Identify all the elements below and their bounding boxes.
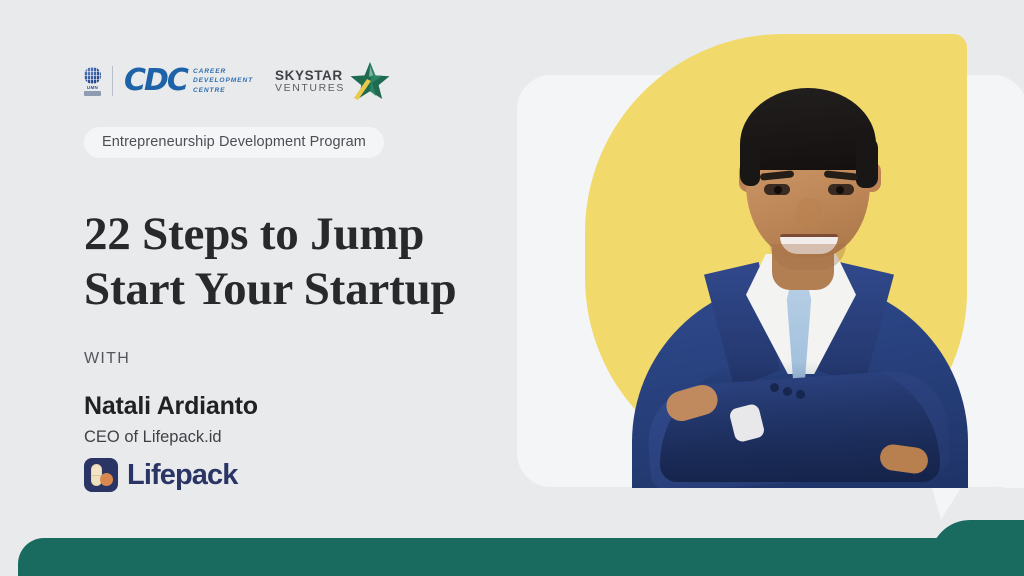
- program-badge: Entrepreneurship Development Program: [84, 127, 384, 158]
- umn-logo-bar: [84, 91, 101, 96]
- umn-logo: UMN: [84, 67, 101, 96]
- skystar-word-line-2: VENTURES: [275, 83, 345, 95]
- title-line-1: 22 Steps to Jump: [84, 207, 514, 262]
- logo-divider: [112, 66, 113, 96]
- suit-button: [796, 390, 805, 399]
- skystar-ventures-logo: SKYSTAR VENTURES: [275, 60, 391, 102]
- speaker-name: Natali Ardianto: [84, 392, 258, 421]
- pill-capsule-icon: [84, 458, 118, 492]
- portrait-artwork: [500, 0, 1024, 576]
- lifepack-logo: Lifepack: [84, 458, 237, 492]
- suit-button: [770, 383, 779, 392]
- cdc-logo: UMN CDC CAREER DEVELOPMENT CENTRE: [84, 66, 253, 96]
- title-line-2: Start Your Startup: [84, 262, 514, 317]
- speaker-photo: [620, 58, 980, 488]
- umn-logo-label: UMN: [87, 85, 98, 90]
- suit-button: [783, 387, 792, 396]
- logo-row: UMN CDC CAREER DEVELOPMENT CENTRE SKYSTA…: [84, 60, 391, 102]
- cdc-word-line-1: CAREER: [193, 67, 253, 77]
- slide-content: UMN CDC CAREER DEVELOPMENT CENTRE SKYSTA…: [84, 0, 524, 576]
- footer-green-bar: [18, 538, 1024, 576]
- nose: [796, 198, 822, 230]
- pupil-right: [836, 186, 844, 194]
- skystar-wordmark: SKYSTAR VENTURES: [275, 68, 345, 95]
- round-pill-shape: [100, 473, 113, 486]
- webinar-slide: UMN CDC CAREER DEVELOPMENT CENTRE SKYSTA…: [0, 0, 1024, 576]
- cdc-wordmark: CAREER DEVELOPMENT CENTRE: [193, 67, 253, 96]
- speaker-role: CEO of Lifepack.id: [84, 428, 222, 447]
- skystar-word-line-1: SKYSTAR: [275, 68, 345, 83]
- hair-side-left: [740, 138, 760, 186]
- cdc-word-line-3: CENTRE: [193, 86, 253, 96]
- umn-globe-icon: [84, 67, 101, 84]
- lifepack-wordmark: Lifepack: [127, 459, 237, 492]
- pupil-left: [774, 186, 782, 194]
- with-label: WITH: [84, 350, 130, 368]
- star-icon: [349, 60, 391, 102]
- hair-side-right: [856, 136, 878, 188]
- page-title: 22 Steps to Jump Start Your Startup: [84, 207, 514, 317]
- cdc-word-line-2: DEVELOPMENT: [193, 76, 253, 86]
- cdc-monogram: CDC: [124, 66, 187, 96]
